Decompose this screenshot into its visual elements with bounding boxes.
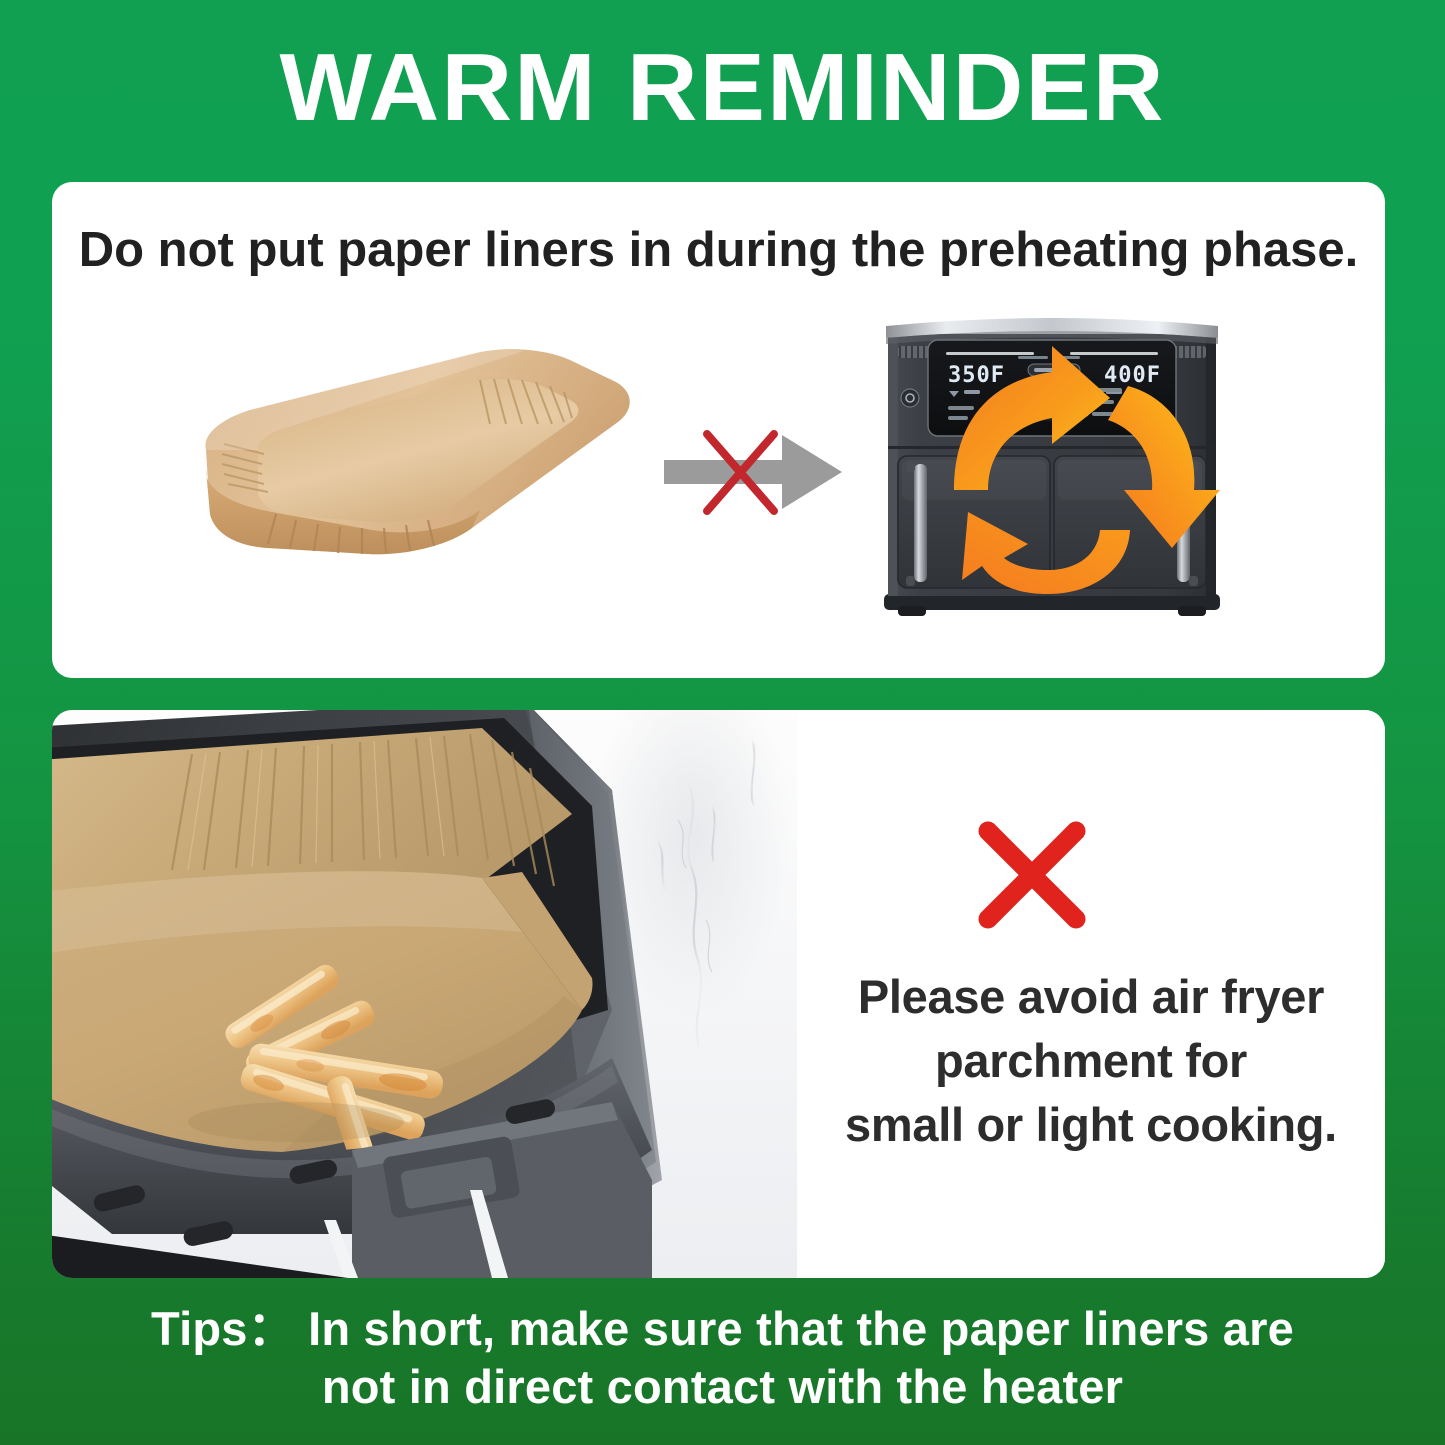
avoid-message: Please avoid air fryer parchment for sma… xyxy=(797,965,1385,1157)
footer-tips: Tips： In short, make sure that the paper… xyxy=(0,1300,1445,1416)
reminder-infographic: WARM REMINDER Do not put paper liners in… xyxy=(0,0,1445,1445)
page-title: WARM REMINDER xyxy=(0,36,1445,140)
cross-icon xyxy=(972,815,1092,935)
air-fryer-display-left: 350F xyxy=(948,363,1005,388)
air-fryer-illustration: 350F 400F xyxy=(842,294,1262,634)
air-fryer-basket-photo xyxy=(52,710,797,1278)
preheating-illustration-row: 350F 400F xyxy=(52,302,1385,672)
avoid-line-1: Please avoid air fryer xyxy=(797,965,1385,1029)
avoid-line-2: parchment for xyxy=(797,1029,1385,1093)
avoid-message-block: Please avoid air fryer parchment for sma… xyxy=(797,710,1385,1278)
paper-liner-stack xyxy=(172,332,642,602)
footer-tips-line-1: Tips： In short, make sure that the paper… xyxy=(0,1300,1445,1358)
air-fryer-display-right: 400F xyxy=(1104,363,1161,388)
panel-preheating-warning: Do not put paper liners in during the pr… xyxy=(52,182,1385,678)
footer-tips-line-2: not in direct contact with the heater xyxy=(0,1358,1445,1416)
panel-avoid-small-cooking: Please avoid air fryer parchment for sma… xyxy=(52,710,1385,1278)
avoid-line-3: small or light cooking. xyxy=(797,1093,1385,1157)
not-allowed-arrow-icon xyxy=(664,417,854,527)
preheating-caption: Do not put paper liners in during the pr… xyxy=(52,222,1385,278)
